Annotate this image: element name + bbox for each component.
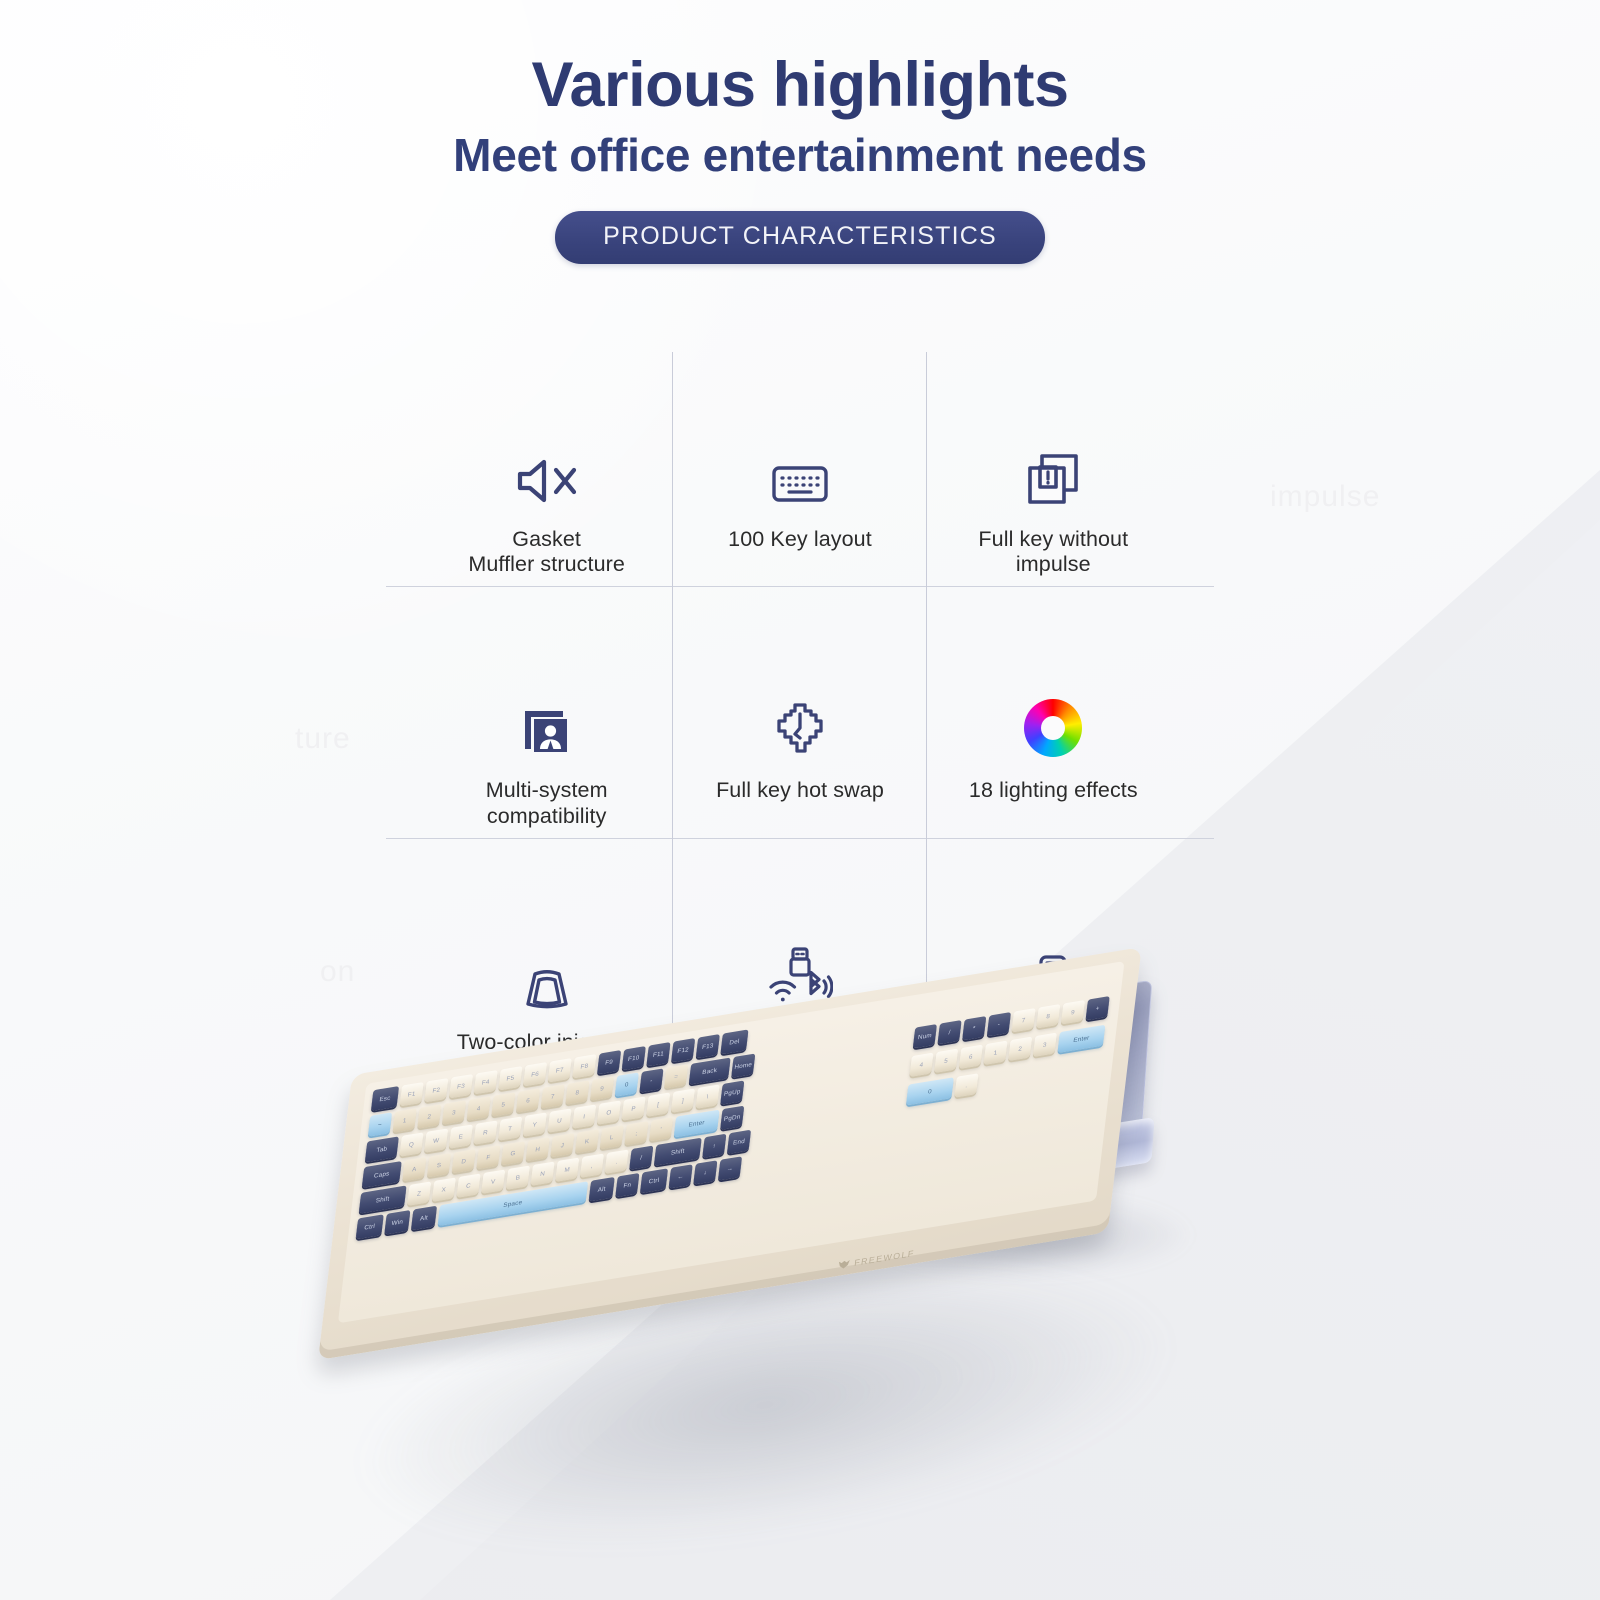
keycap: ] [671, 1088, 695, 1112]
page-subtitle: Meet office entertainment needs [0, 130, 1600, 181]
numpad-keycap: 2 [1008, 1037, 1032, 1061]
keycap: E [449, 1124, 473, 1148]
keycap: Fn [615, 1173, 639, 1197]
numpad-keycap: 5 [934, 1049, 958, 1073]
keycap: Ctrl [356, 1214, 384, 1239]
numpad-keycap: 6 [959, 1045, 983, 1069]
keycap: M [555, 1157, 579, 1181]
keycap: End [727, 1130, 751, 1154]
keycap: \ [696, 1084, 720, 1108]
keycap: Esc [371, 1086, 399, 1111]
numpad-keycap: 1 [983, 1041, 1007, 1065]
keycap: Tab [365, 1136, 399, 1162]
keycap: R [473, 1120, 497, 1144]
keycap: P [621, 1096, 645, 1120]
keycap: F9 [597, 1050, 621, 1074]
feature-label: Full key without impulse [978, 527, 1128, 578]
keycap: Win [384, 1210, 410, 1235]
ghost-watermark: impulse [1270, 480, 1380, 514]
keycap: I [572, 1104, 596, 1128]
keycap: - [639, 1068, 663, 1092]
keycap: B [506, 1165, 530, 1189]
keycap: Shift [359, 1185, 407, 1213]
keycap: 2 [417, 1104, 441, 1128]
keycap: H [526, 1137, 550, 1161]
keycap: 0 [615, 1072, 639, 1096]
keycap: F7 [548, 1058, 572, 1082]
keycap: F12 [671, 1038, 695, 1062]
keycap: ↓ [693, 1160, 717, 1184]
numpad-keycap: 7 [1011, 1008, 1035, 1032]
keycap: F3 [449, 1074, 473, 1098]
keycap: C [456, 1173, 480, 1197]
keycap: S [427, 1153, 451, 1177]
keycap: 3 [442, 1100, 466, 1124]
numpad-keycap: * [962, 1016, 986, 1040]
keycap: ' [649, 1117, 673, 1141]
ghost-watermark: ture [295, 722, 351, 756]
keycap: 6 [516, 1088, 540, 1112]
feature-cell-full-key-hot-swap[interactable]: Full key hot swap [673, 587, 926, 838]
numpad-keycap: + [1086, 996, 1110, 1020]
keycap: N [530, 1161, 554, 1185]
hot-swap-switch-icon [773, 647, 827, 757]
keycap: W [424, 1128, 448, 1152]
feature-cell-gasket-muffler[interactable]: Gasket Muffler structure [420, 336, 673, 587]
keycap: F4 [474, 1070, 498, 1094]
numpad-key-group: Num/*-789+456123Enter0. [905, 994, 1122, 1110]
keycap: [ [646, 1092, 670, 1116]
keycap: . [604, 1149, 628, 1173]
keycap: K [575, 1129, 599, 1153]
keycap: U [547, 1108, 571, 1132]
keycap: PgUp [720, 1080, 744, 1104]
feature-cell-full-key-without-impulse[interactable]: Full key without impulse [927, 336, 1180, 587]
feature-cell-100-key-layout[interactable]: 100 Key layout [673, 336, 926, 587]
keycap: Alt [411, 1206, 437, 1231]
keycap: X [432, 1177, 456, 1201]
keycap: 1 [393, 1108, 417, 1132]
numpad-keycap: Num [913, 1024, 937, 1048]
numpad-keycap: 4 [909, 1053, 933, 1077]
feature-label: Multi-system compatibility [486, 778, 608, 829]
numpad-keycap: / [937, 1020, 961, 1044]
keycap: F13 [696, 1034, 720, 1058]
keycap: F6 [523, 1062, 547, 1086]
header-block: Various highlights Meet office entertain… [0, 52, 1600, 264]
numpad-keycap: 0 [906, 1077, 954, 1105]
numpad-keycap: Enter [1057, 1025, 1105, 1053]
keycap: F11 [646, 1042, 670, 1066]
keycap: ~ [368, 1112, 392, 1136]
product-photo: K8 KEYBOARD EscF1F2F3F4F5F6F7F8F9F10F11F… [0, 980, 1600, 1600]
keycap: Del [720, 1029, 748, 1054]
keycap: G [501, 1141, 525, 1165]
keycap: ← [669, 1164, 693, 1188]
keycap: Caps [362, 1161, 402, 1188]
keycap: 7 [541, 1084, 565, 1108]
keycap: O [597, 1100, 621, 1124]
rgb-color-wheel-icon [1024, 647, 1082, 757]
keyboard-icon [771, 396, 829, 506]
keycap: Alt [589, 1177, 615, 1202]
keycap: Ctrl [640, 1168, 668, 1193]
keycap: Q [399, 1132, 423, 1156]
keycap: ; [624, 1121, 648, 1145]
keycap: F [476, 1145, 500, 1169]
keycap: Home [731, 1053, 755, 1077]
keycap: D [452, 1149, 476, 1173]
page-title: Various highlights [0, 52, 1600, 118]
keycap: Z [407, 1181, 431, 1205]
numpad-keycap: . [954, 1073, 978, 1097]
keycap: Enter [674, 1110, 720, 1138]
keycap: J [550, 1133, 574, 1157]
keycap: F10 [622, 1046, 646, 1070]
keycap: L [600, 1125, 624, 1149]
product-characteristics-badge: PRODUCT CHARACTERISTICS [555, 211, 1045, 264]
keycap: ↑ [702, 1134, 726, 1158]
keycap: F2 [424, 1078, 448, 1102]
keycap: F1 [400, 1082, 424, 1106]
feature-label: 100 Key layout [728, 527, 872, 552]
numpad-keycap: 9 [1061, 1000, 1085, 1024]
feature-cell-18-lighting-effects[interactable]: 18 lighting effects [927, 587, 1180, 838]
keycap: , [580, 1153, 604, 1177]
numpad-keycap: 3 [1033, 1033, 1057, 1057]
id-card-person-icon [519, 647, 575, 757]
keycap: = [664, 1064, 688, 1088]
keycap: 9 [590, 1076, 614, 1100]
keycap: PgDn [720, 1106, 744, 1130]
keycap: Back [689, 1057, 731, 1084]
feature-cell-multi-system[interactable]: Multi-system compatibility [420, 587, 673, 838]
keycap: Y [523, 1112, 547, 1136]
keycap: Shift [654, 1138, 702, 1166]
feature-label: Gasket Muffler structure [468, 527, 625, 578]
keycap: / [629, 1145, 653, 1169]
numpad-keycap: - [987, 1012, 1011, 1036]
mute-speaker-icon [516, 396, 578, 506]
keycap: F8 [572, 1054, 596, 1078]
numpad-keycap: 8 [1036, 1004, 1060, 1028]
feature-label: 18 lighting effects [969, 778, 1138, 803]
keycap: 4 [467, 1096, 491, 1120]
keycap: T [498, 1116, 522, 1140]
keycap: F5 [498, 1066, 522, 1090]
badge-container: PRODUCT CHARACTERISTICS [0, 211, 1600, 264]
keycap: 5 [491, 1092, 515, 1116]
keycap: → [718, 1156, 742, 1180]
feature-label: Full key hot swap [716, 778, 884, 803]
keycap: A [402, 1157, 426, 1181]
keycap: V [481, 1169, 505, 1193]
layers-alert-icon [1025, 396, 1081, 506]
keycap: 8 [565, 1080, 589, 1104]
